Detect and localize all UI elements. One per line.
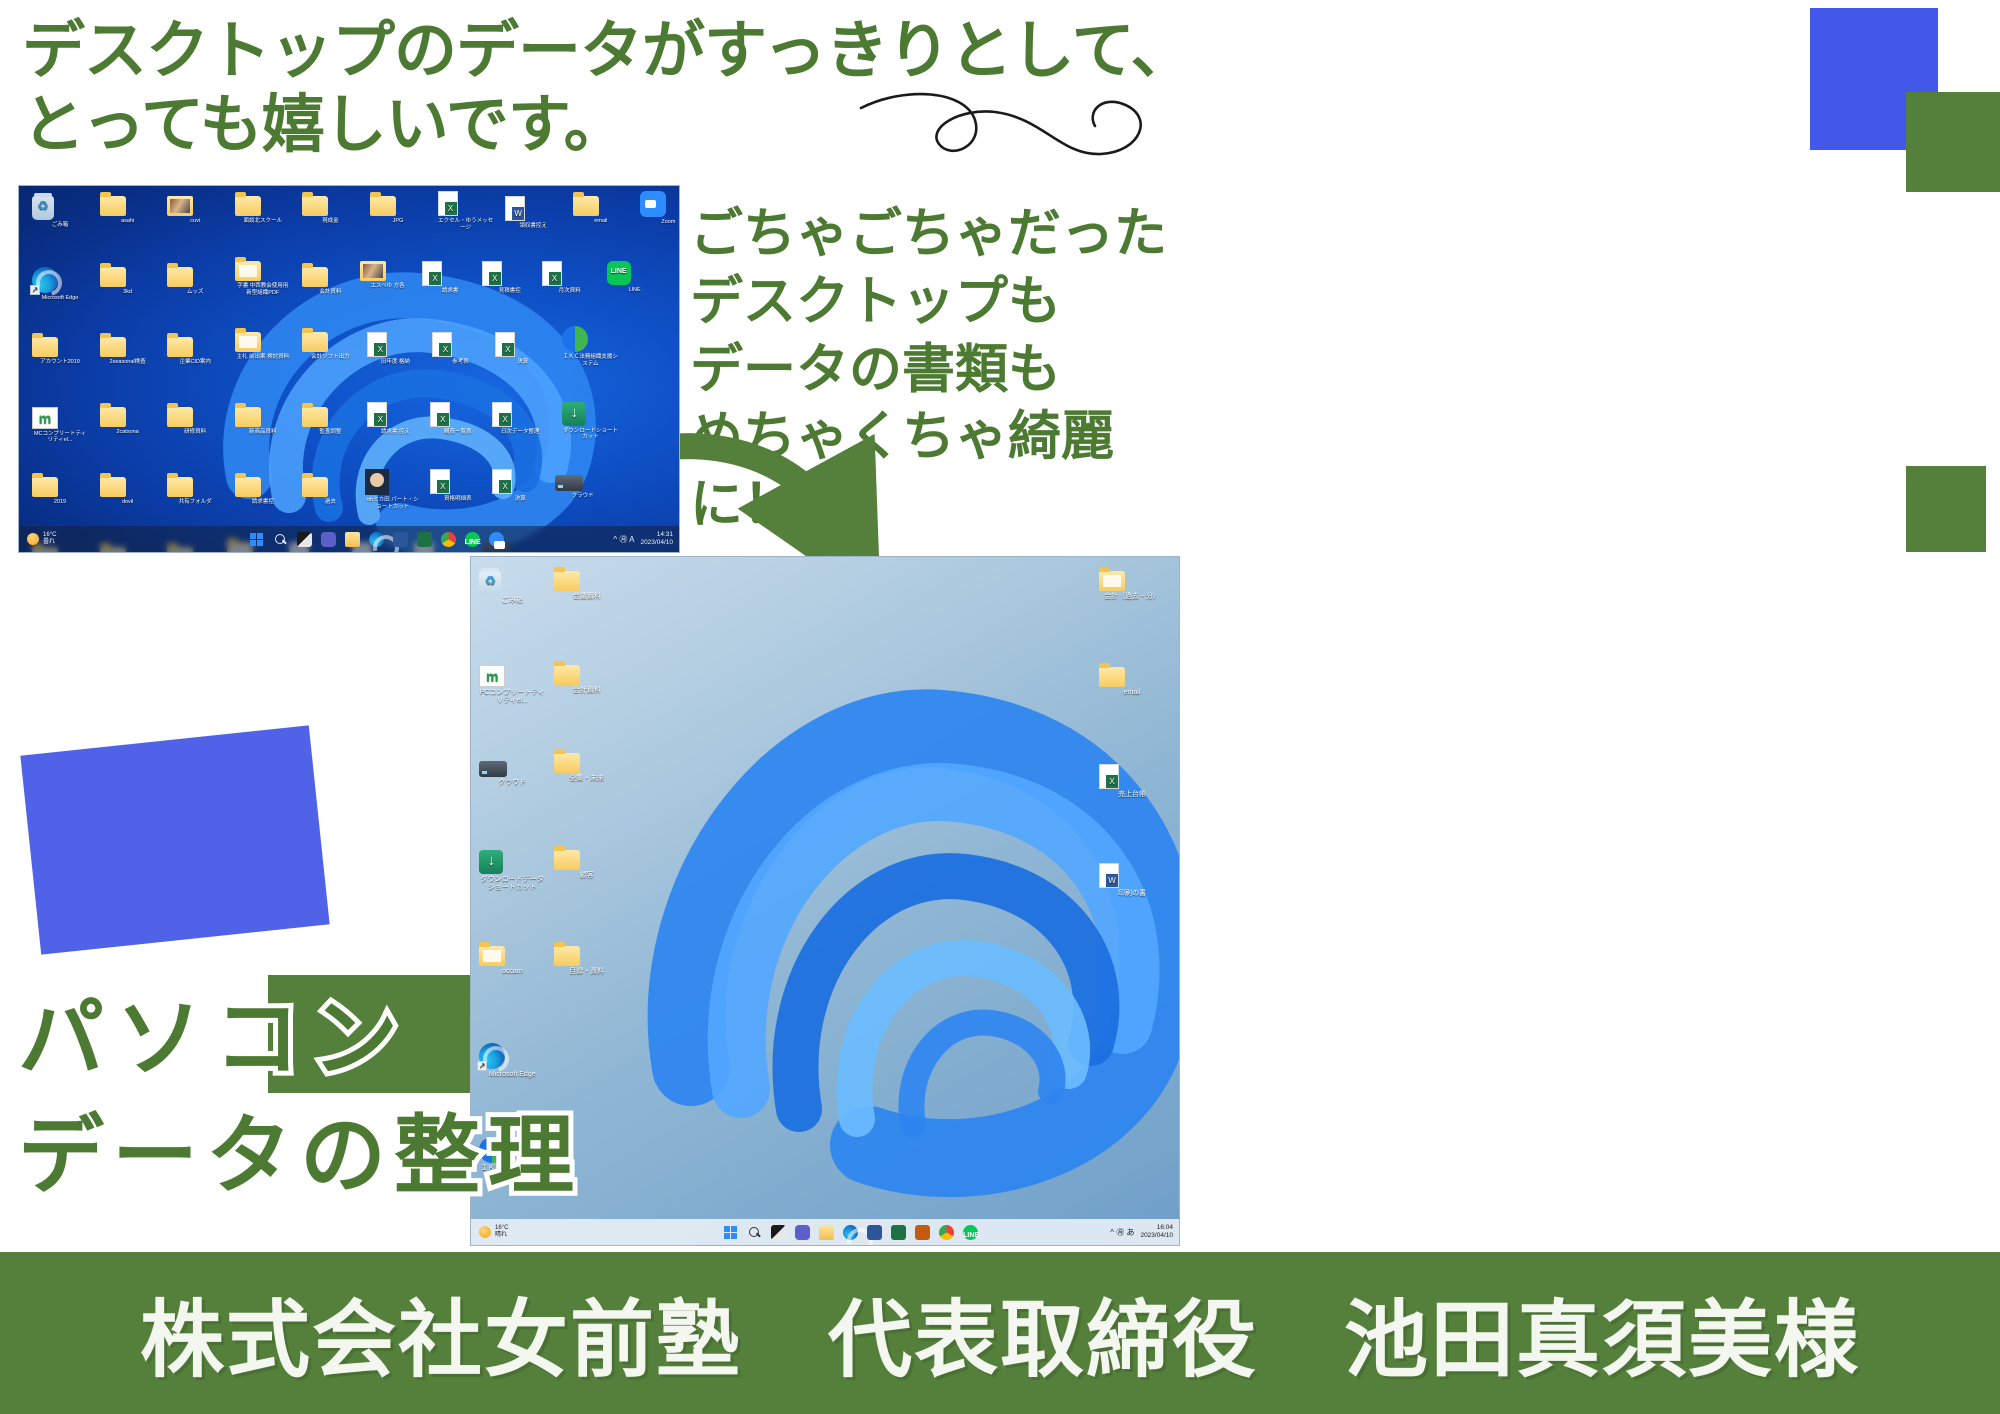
sheet-excel-icon: X bbox=[422, 261, 478, 286]
word-icon[interactable] bbox=[867, 1225, 882, 1240]
folder-icon bbox=[554, 946, 620, 966]
desktop-icon-label: 新商品資料 bbox=[249, 429, 277, 435]
edge-icon: ↗ bbox=[479, 1043, 545, 1069]
desktop-icon-label: 研修資料 bbox=[184, 429, 206, 435]
chrome-icon[interactable] bbox=[441, 532, 456, 547]
folder-icon bbox=[167, 267, 223, 287]
desktop-icon[interactable]: asahi bbox=[100, 196, 156, 224]
desktop-icon-label: cuvi bbox=[190, 218, 200, 224]
desktop-icon-label: クラウド bbox=[498, 779, 526, 786]
taskbar-after[interactable]: 16°C 晴れ ^ ㊊ あ 16:04 bbox=[471, 1219, 1179, 1245]
line-icon[interactable] bbox=[963, 1225, 978, 1240]
desktop-icon-label: email bbox=[594, 218, 607, 224]
desktop-icon-label: 売上台帳 bbox=[1118, 791, 1146, 798]
line-icon bbox=[607, 261, 663, 285]
sheet-excel-icon: X bbox=[542, 261, 598, 286]
folder-icon bbox=[32, 477, 88, 497]
desktop-icon-label: 会計資料 bbox=[319, 289, 341, 295]
teams-icon[interactable] bbox=[321, 532, 336, 547]
desktop-icon-label: 全集・未来 bbox=[569, 775, 604, 782]
folder-icon bbox=[554, 753, 620, 773]
squiggle-flourish bbox=[855, 78, 1195, 178]
sync-icon bbox=[562, 326, 618, 352]
folder-icon bbox=[235, 407, 291, 427]
desktop-icon[interactable]: 監査調整 bbox=[302, 407, 358, 435]
desktop-icon[interactable]: JPG bbox=[370, 196, 426, 224]
desktop-icon-label: 2seasonal検査 bbox=[110, 359, 146, 365]
desktop-icon-label: 印刷の書 bbox=[1118, 890, 1146, 897]
desktop-icon-label: 2019 bbox=[54, 499, 66, 505]
desktop-icon[interactable]: アカウント2019 bbox=[32, 337, 88, 365]
decor-square-green-mid bbox=[1906, 466, 1986, 552]
folder-photo-icon bbox=[167, 196, 223, 216]
desktop-icon[interactable]: occam bbox=[479, 946, 545, 976]
sheet-excel-icon: X bbox=[492, 469, 548, 494]
desktop-icon-label: ごみ箱 bbox=[52, 222, 69, 228]
desktop-icon-label: ダウンロードデータ ショートカット bbox=[481, 876, 544, 891]
desktop-icon[interactable]: MCコンプリートティリティel... bbox=[32, 407, 88, 444]
desktop-icon-label: エクセル・ゆうメッセージ bbox=[438, 218, 493, 230]
powerpoint-icon[interactable] bbox=[915, 1225, 930, 1240]
desktop-icon-label: 月次資料 bbox=[559, 288, 581, 294]
folder-icon bbox=[1099, 667, 1165, 687]
desktop-icon[interactable]: X決算 bbox=[492, 469, 548, 502]
sheet-excel-icon: X bbox=[1099, 764, 1165, 789]
folder-icon bbox=[554, 571, 620, 591]
desktop-icon-label: ダウンロードショートカット bbox=[563, 428, 618, 440]
search-icon[interactable] bbox=[273, 532, 288, 547]
hdd-icon bbox=[555, 475, 611, 491]
desktop-icon[interactable]: 2catsona bbox=[100, 407, 156, 435]
desktop-icon[interactable]: クラウド bbox=[555, 475, 611, 499]
clock-date: 2023/04/10 bbox=[640, 539, 673, 547]
mt-icon bbox=[32, 407, 88, 429]
chrome-icon[interactable] bbox=[939, 1225, 954, 1240]
desktop-icon[interactable]: ＩＫＣ法務組織支援システム bbox=[562, 326, 618, 367]
desktop-icon[interactable]: cuvi bbox=[167, 196, 223, 224]
desktop-icon-label: 決算 bbox=[515, 496, 526, 502]
teams-icon[interactable] bbox=[795, 1225, 810, 1240]
clock-before[interactable]: 14:31 2023/04/10 bbox=[640, 531, 673, 547]
desktop-icon[interactable]: X日次データ整理 bbox=[492, 402, 548, 435]
sheet-word-icon: W bbox=[505, 196, 561, 221]
desktop-icon[interactable]: ↗Microsoft Edge bbox=[32, 267, 88, 301]
desktop-icon[interactable]: X見積書控 bbox=[482, 261, 538, 294]
desktop-icon[interactable]: 現成金 bbox=[302, 196, 358, 224]
poster-canvas: デスクトップのデータがすっきりとして、 とっても嬉しいです。 ごちゃごちゃだった… bbox=[0, 0, 2000, 1414]
desktop-icon[interactable]: ムッズ bbox=[167, 267, 223, 295]
folder-icon bbox=[370, 196, 426, 216]
start-icon[interactable] bbox=[249, 532, 264, 547]
desktop-icon[interactable]: X月次資料 bbox=[542, 261, 598, 294]
desktop-icon[interactable]: ダウンロードショートカット bbox=[562, 402, 618, 441]
desktop-icon[interactable]: ごみ箱 bbox=[32, 196, 88, 228]
sheet-excel-icon: X bbox=[482, 261, 538, 286]
tray-glyphs[interactable]: ^ ㊊ あ bbox=[1110, 1227, 1134, 1238]
sun-icon bbox=[27, 533, 39, 545]
desktop-icon-label: 領収書控え bbox=[519, 223, 547, 229]
recycle-bin-icon bbox=[32, 196, 88, 220]
desktop-icon-label: asahi bbox=[121, 218, 134, 224]
desktop-icon-label: 請求書 bbox=[442, 288, 459, 294]
clock-time: 14:31 bbox=[640, 531, 673, 539]
desktop-icon[interactable]: 会計資料 bbox=[554, 665, 620, 695]
weather-condition: 晴れ bbox=[495, 1232, 508, 1240]
desktop-icon-label: 決算 bbox=[517, 359, 528, 365]
desktop-icon[interactable]: 研修資料 bbox=[167, 407, 223, 435]
decor-square-blue-tilted bbox=[20, 725, 329, 954]
desktop-icon-label: 日次データ整理 bbox=[501, 429, 540, 435]
desktop-icon[interactable]: email bbox=[573, 196, 629, 224]
explorer-icon[interactable] bbox=[819, 1225, 834, 1240]
folder-icon bbox=[302, 332, 358, 352]
sheet-excel-icon: X bbox=[438, 191, 494, 216]
desktop-icon-label: 会計（過去・分） bbox=[1104, 593, 1160, 600]
photo-icon bbox=[360, 261, 416, 281]
desktop-icon-label: ムッズ bbox=[187, 289, 204, 295]
desktop-icon-label: 請求書控 bbox=[252, 499, 274, 505]
desktop-icon-label: 会議資料 bbox=[573, 593, 601, 600]
excel-icon[interactable] bbox=[417, 532, 432, 547]
folder-icon bbox=[302, 407, 358, 427]
widgets-icon[interactable] bbox=[771, 1225, 786, 1240]
desktop-icon[interactable]: LINE bbox=[607, 261, 663, 293]
sheet-excel-icon: X bbox=[432, 332, 488, 357]
folder-doc-icon bbox=[235, 261, 291, 281]
desktop-icon-label: 旧年度 格納 bbox=[381, 359, 410, 365]
desktop-icon[interactable]: X参考表 bbox=[432, 332, 488, 365]
widgets-icon[interactable] bbox=[297, 532, 312, 547]
desktop-icon-label: Zoom bbox=[661, 219, 675, 225]
desktop-icon[interactable]: X請求書 bbox=[422, 261, 478, 294]
desktop-icon[interactable]: 会計資料 bbox=[302, 267, 358, 295]
desktop-icon[interactable]: 3kd bbox=[100, 267, 156, 295]
desktop-icons-after-right: 会計（過去・分）emailX売上台帳W印刷の書 bbox=[1099, 557, 1179, 1245]
desktop-icon-label: dovil bbox=[122, 499, 133, 505]
desktop-icon-label: 3kd bbox=[123, 289, 132, 295]
explorer-icon[interactable] bbox=[345, 532, 360, 547]
sheet-excel-icon: X bbox=[495, 332, 551, 357]
desktop-icon-label: email bbox=[1124, 689, 1141, 696]
sheet-excel-icon: X bbox=[430, 469, 486, 494]
desktop-icon[interactable]: ダウンロードデータ ショートカット bbox=[479, 850, 545, 892]
desktop-icon-label: 顧客 bbox=[580, 872, 594, 879]
desktop-icon-label: 会計ソフト出力 bbox=[311, 354, 350, 360]
desktop-icon-label: JPG bbox=[393, 218, 404, 224]
zoom-icon[interactable] bbox=[489, 532, 504, 547]
desktop-icon[interactable]: PCコンプリートティリティel... bbox=[479, 665, 545, 705]
desktop-icon-label: エスペゆ 方各 bbox=[371, 283, 405, 289]
desktop-icon-label: 会計資料 bbox=[573, 687, 601, 694]
desktop-icon[interactable]: 2seasonal検査 bbox=[100, 337, 156, 365]
desktop-icon-label: 資格明細表 bbox=[444, 496, 472, 502]
bottom-banner: 株式会社女前塾 代表取締役 池田真須美様 bbox=[0, 1252, 2000, 1414]
folder-doc-icon bbox=[1099, 571, 1165, 591]
excel-icon[interactable] bbox=[891, 1225, 906, 1240]
system-tray-before[interactable]: ^ ㊊ A 14:31 2023/04/10 bbox=[613, 531, 679, 547]
desktop-icon[interactable]: dovil bbox=[100, 477, 156, 505]
taskbar-apps-before[interactable] bbox=[139, 532, 613, 547]
desktop-icon-label: 字書 中西教会使用用 新型組織PDF bbox=[237, 283, 288, 295]
desktop-icon-label: ＩＫＣ法務組織支援システム bbox=[563, 354, 618, 366]
weather-temp: 16°C bbox=[495, 1225, 508, 1233]
desktop-icon[interactable]: エスペゆ 方各 bbox=[360, 261, 416, 289]
desktop-icon-label: クラウド bbox=[572, 493, 594, 499]
desktop-icon-label: 目録・資料 bbox=[569, 968, 604, 975]
line-icon[interactable] bbox=[465, 532, 480, 547]
mt-icon bbox=[479, 665, 545, 687]
clock-date: 2023/04/10 bbox=[1140, 1232, 1173, 1240]
sheet-excel-icon: X bbox=[367, 402, 423, 427]
weather-widget-after[interactable]: 16°C 晴れ bbox=[471, 1225, 591, 1240]
taskbar-before[interactable]: 16°C 曇れ ^ ㊊ A 14:31 bbox=[19, 526, 679, 552]
desktop-icon[interactable]: 主礼 前出案 検討資料 bbox=[235, 332, 291, 360]
face-icon bbox=[365, 469, 421, 495]
desktop-icon[interactable]: Xエクセル・ゆうメッセージ bbox=[438, 191, 494, 231]
folder-icon bbox=[100, 267, 156, 287]
desktop-icon[interactable]: W領収書控え bbox=[505, 196, 561, 229]
word-icon[interactable] bbox=[393, 532, 408, 547]
desktop-icon[interactable]: 新商品資料 bbox=[235, 407, 291, 435]
desktop-icons-before: ごみ箱asahicuvi面談北スクール現成金JPGXエクセル・ゆうメッセージW領… bbox=[19, 186, 679, 552]
desktop-icon[interactable]: W印刷の書 bbox=[1099, 863, 1165, 898]
desktop-icon[interactable]: ohミカ田 パート・ショートカット bbox=[365, 469, 421, 510]
desktop-icon[interactable]: ごみ箱 bbox=[479, 571, 545, 605]
desktop-icon-label: occam bbox=[502, 968, 523, 975]
desktop-icon[interactable]: 顧客 bbox=[554, 850, 620, 880]
folder-icon bbox=[302, 196, 358, 216]
desktop-icon[interactable]: email bbox=[1099, 667, 1165, 697]
desktop-icon[interactable]: 2019 bbox=[32, 477, 88, 505]
sun-icon bbox=[479, 1226, 491, 1238]
folder-icon bbox=[32, 337, 88, 357]
desktop-icon-label: 請求書 控え bbox=[381, 429, 410, 435]
desktop-icon[interactable]: 過去 bbox=[302, 477, 358, 505]
start-icon[interactable] bbox=[723, 1225, 738, 1240]
screenshot-before[interactable]: ごみ箱asahicuvi面談北スクール現成金JPGXエクセル・ゆうメッセージW領… bbox=[18, 185, 680, 553]
desktop-icon[interactable]: X売上台帳 bbox=[1099, 764, 1165, 799]
folder-icon bbox=[302, 267, 358, 287]
tray-glyphs[interactable]: ^ ㊊ A bbox=[613, 534, 634, 545]
folder-icon bbox=[100, 196, 156, 216]
folder-icon bbox=[554, 665, 620, 685]
desktop-icon[interactable]: 共有フォルダ bbox=[167, 477, 223, 505]
desktop-icon[interactable]: 会議資料 bbox=[554, 571, 620, 601]
desktop-icon-label: 見積書控 bbox=[499, 288, 521, 294]
weather-condition: 曇れ bbox=[43, 539, 56, 547]
weather-temp: 16°C bbox=[43, 532, 56, 540]
desktop-icon[interactable]: X旧年度 格納 bbox=[367, 332, 423, 365]
sheet-excel-icon: X bbox=[492, 402, 548, 427]
desktop-icon[interactable]: ↗Microsoft Edge bbox=[479, 1043, 545, 1079]
desktop-icon[interactable]: X決算 bbox=[495, 332, 551, 365]
desktop-icon[interactable]: 請求書控 bbox=[235, 477, 291, 505]
folder-icon bbox=[302, 477, 358, 497]
sheet-excel-icon: X bbox=[430, 402, 486, 427]
desktop-icon-label: 参考表 bbox=[452, 359, 469, 365]
brand-line-1: パソコン bbox=[18, 968, 410, 1093]
client-credit: 株式会社女前塾 代表取締役 池田真須美様 bbox=[140, 1273, 1860, 1394]
desktop-icon[interactable]: X請求書 控え bbox=[367, 402, 423, 435]
desktop-icon-label: 主礼 前出案 検討資料 bbox=[237, 354, 290, 360]
desktop-icon-label: ごみ箱 bbox=[502, 597, 523, 604]
system-tray-after[interactable]: ^ ㊊ あ 16:04 2023/04/10 bbox=[1110, 1224, 1179, 1240]
folder-doc-icon bbox=[235, 332, 291, 352]
folder-doc-icon bbox=[479, 946, 545, 966]
taskbar-apps-after[interactable] bbox=[591, 1225, 1110, 1240]
desktop-icon[interactable]: 字書 中西教会使用用 新型組織PDF bbox=[235, 261, 291, 296]
decor-square-green-top bbox=[1906, 92, 2000, 192]
desktop-icon-label: 企業CID案内 bbox=[179, 359, 210, 365]
desktop-icon[interactable]: Zoom bbox=[640, 191, 680, 225]
folder-icon bbox=[167, 337, 223, 357]
search-icon[interactable] bbox=[747, 1225, 762, 1240]
folder-icon bbox=[167, 407, 223, 427]
desktop-icon-label: ohミカ田 パート・ショートカット bbox=[367, 497, 419, 509]
folder-icon bbox=[554, 850, 620, 870]
clock-time: 16:04 bbox=[1140, 1224, 1173, 1232]
folder-icon bbox=[167, 477, 223, 497]
desktop-icon-label: PCコンプリートティリティel... bbox=[480, 689, 545, 704]
folder-icon bbox=[100, 477, 156, 497]
desktop-icon-label: 現成金 bbox=[322, 218, 339, 224]
download-icon bbox=[479, 850, 545, 874]
sheet-word-icon: W bbox=[1099, 863, 1165, 888]
edge-icon[interactable] bbox=[843, 1225, 858, 1240]
edge-icon[interactable] bbox=[369, 532, 384, 547]
hdd-icon bbox=[479, 761, 545, 777]
recycle-bin-icon bbox=[479, 571, 545, 595]
desktop-icon-label: 2catsona bbox=[116, 429, 138, 435]
desktop-icon-label: アカウント2019 bbox=[40, 359, 80, 365]
desktop-icon[interactable]: X購買一覧表 bbox=[430, 402, 486, 435]
folder-icon bbox=[100, 337, 156, 357]
clock-after[interactable]: 16:04 2023/04/10 bbox=[1140, 1224, 1173, 1240]
sheet-excel-icon: X bbox=[367, 332, 423, 357]
folder-icon bbox=[100, 407, 156, 427]
zoom-icon bbox=[640, 191, 680, 217]
edge-icon: ↗ bbox=[32, 267, 88, 293]
desktop-icon-label: 共有フォルダ bbox=[179, 499, 212, 505]
desktop-icon[interactable]: 目録・資料 bbox=[554, 946, 620, 976]
desktop-icon-label: MCコンプリートティリティel... bbox=[34, 431, 86, 443]
folder-icon bbox=[573, 196, 629, 216]
desktop-icon[interactable]: 会計ソフト出力 bbox=[302, 332, 358, 360]
desktop-icon-label: LINE bbox=[628, 287, 640, 293]
desktop-icon[interactable]: 全集・未来 bbox=[554, 753, 620, 783]
desktop-icon[interactable]: 会計（過去・分） bbox=[1099, 571, 1165, 601]
download-icon bbox=[562, 402, 618, 426]
desktop-icon[interactable]: クラウド bbox=[479, 761, 545, 787]
desktop-icon-label: 面談北スクール bbox=[244, 218, 283, 224]
desktop-icon-label: 過去 bbox=[325, 499, 336, 505]
desktop-icon[interactable]: 企業CID案内 bbox=[167, 337, 223, 365]
desktop-icon-label: 監査調整 bbox=[319, 429, 341, 435]
brand-line-2: データの整理 bbox=[18, 1085, 582, 1210]
desktop-icon[interactable]: 面談北スクール bbox=[235, 196, 291, 224]
desktop-icon-label: 購買一覧表 bbox=[444, 429, 472, 435]
folder-icon bbox=[235, 477, 291, 497]
desktop-icon[interactable]: X資格明細表 bbox=[430, 469, 486, 502]
folder-icon bbox=[235, 196, 291, 216]
weather-widget-before[interactable]: 16°C 曇れ bbox=[19, 532, 139, 547]
